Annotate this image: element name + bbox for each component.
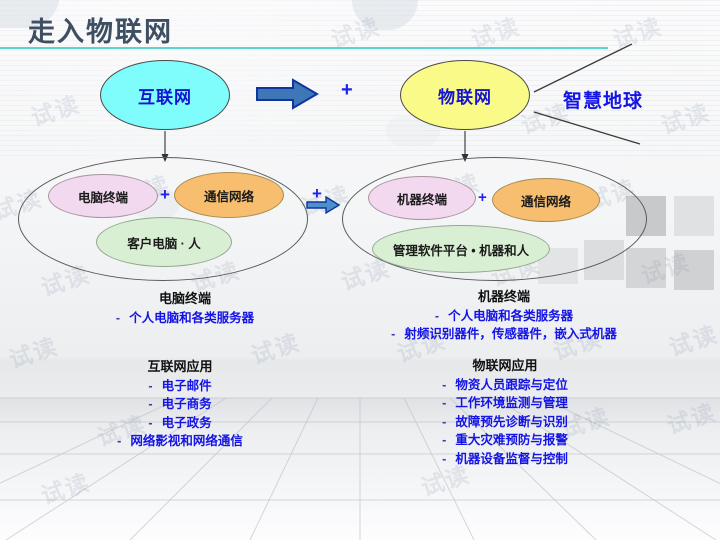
sub-ellipse-client-pc-person[interactable]: 客户电脑 · 人 <box>96 217 232 267</box>
sub-ellipse-machine-terminal-label: 机器终端 <box>397 189 447 208</box>
bullet-dash: - <box>442 431 446 450</box>
left-apps-block: 互联网应用 - 电子邮件 - 电子商务 - 电子政务 - 网络影视和网络通信 <box>30 357 330 451</box>
plus-symbol-left-group: + <box>160 186 170 203</box>
background-square-4 <box>674 196 714 236</box>
list-item-label: 个人电脑和各类服务器 <box>129 309 254 328</box>
sub-ellipse-comm-network-left-label: 通信网络 <box>204 186 254 205</box>
sub-ellipse-comm-network-left[interactable]: 通信网络 <box>174 172 284 218</box>
ellipse-iot-label: 物联网 <box>438 83 492 108</box>
right-apps-heading: 物联网应用 <box>340 356 670 376</box>
list-item-label: 物资人员跟踪与定位 <box>455 376 568 395</box>
list-item-label: 故障预先诊断与识别 <box>455 413 568 432</box>
bullet-dash: - <box>435 307 439 326</box>
slide-canvas: 试读 试读 试读 试读 试读 试读 试读 试读 试读 试读 试读 试读 试读 试… <box>0 0 720 540</box>
background-square-5 <box>674 250 714 290</box>
list-item: - 射频识别器件，传感器件，嵌入式机器 <box>334 325 674 344</box>
sub-ellipse-management-platform[interactable]: 管理软件平台 • 机器和人 <box>372 225 550 273</box>
sub-ellipse-client-pc-person-label: 客户电脑 · 人 <box>127 233 201 252</box>
page-title: 走入物联网 <box>28 10 173 49</box>
left-terminal-block: 电脑终端 - 个人电脑和各类服务器 <box>40 289 330 327</box>
list-item: - 物资人员跟踪与定位 <box>340 376 670 395</box>
list-item: - 重大灾难预防与报警 <box>340 431 670 450</box>
title-underline-rule <box>0 47 608 49</box>
sub-ellipse-pc-terminal[interactable]: 电脑终端 <box>48 174 158 218</box>
plus-symbol-right-group: + <box>478 190 487 205</box>
list-item: - 故障预先诊断与识别 <box>340 413 670 432</box>
bullet-dash: - <box>442 450 446 469</box>
list-item: - 电子邮件 <box>30 377 330 396</box>
list-item: - 网络影视和网络通信 <box>30 432 330 451</box>
ellipse-internet[interactable]: 互联网 <box>100 60 230 130</box>
bullet-dash: - <box>116 309 120 328</box>
list-item-label: 电子邮件 <box>162 377 212 396</box>
list-item-label: 射频识别器件，传感器件，嵌入式机器 <box>404 325 617 344</box>
list-item-label: 机器设备监督与控制 <box>455 450 568 469</box>
plus-symbol-top: + <box>341 80 353 100</box>
right-apps-block: 物联网应用 - 物资人员跟踪与定位 - 工作环境监测与管理 - 故障预先诊断与识… <box>340 356 670 468</box>
bullet-dash: - <box>442 394 446 413</box>
background-square-3 <box>626 248 666 288</box>
background-blob-2 <box>352 0 418 30</box>
list-item: - 电子商务 <box>30 395 330 414</box>
bullet-dash: - <box>148 395 152 414</box>
bullet-dash: - <box>117 432 121 451</box>
ellipse-iot[interactable]: 物联网 <box>400 60 530 130</box>
list-item-label: 电子政务 <box>162 414 212 433</box>
list-item: - 个人电脑和各类服务器 <box>40 309 330 328</box>
list-item: - 电子政务 <box>30 414 330 433</box>
list-item: - 机器设备监督与控制 <box>340 450 670 469</box>
right-arrow-small-icon <box>306 196 340 214</box>
right-arrow-icon <box>255 78 319 110</box>
sub-ellipse-comm-network-right[interactable]: 通信网络 <box>492 178 600 222</box>
left-apps-heading: 互联网应用 <box>30 357 330 377</box>
bullet-dash: - <box>442 413 446 432</box>
list-item-label: 重大灾难预防与报警 <box>455 431 568 450</box>
right-terminal-heading: 机器终端 <box>334 287 674 307</box>
list-item-label: 电子商务 <box>162 395 212 414</box>
left-terminal-heading: 电脑终端 <box>40 289 330 309</box>
ellipse-internet-label: 互联网 <box>138 83 192 108</box>
bullet-dash: - <box>148 377 152 396</box>
list-item-label: 网络影视和网络通信 <box>130 432 243 451</box>
sub-ellipse-machine-terminal[interactable]: 机器终端 <box>368 176 476 220</box>
list-item: - 工作环境监测与管理 <box>340 394 670 413</box>
sub-ellipse-management-platform-label: 管理软件平台 • 机器和人 <box>393 240 529 259</box>
list-item: - 个人电脑和各类服务器 <box>334 307 674 326</box>
bullet-dash: - <box>442 376 446 395</box>
right-terminal-block: 机器终端 - 个人电脑和各类服务器 - 射频识别器件，传感器件，嵌入式机器 <box>334 287 674 344</box>
bullet-dash: - <box>148 414 152 433</box>
list-item-label: 工作环境监测与管理 <box>455 394 568 413</box>
bullet-dash: - <box>391 325 395 344</box>
list-item-label: 个人电脑和各类服务器 <box>448 307 573 326</box>
sub-ellipse-comm-network-right-label: 通信网络 <box>521 191 571 210</box>
smart-earth-label: 智慧地球 <box>563 86 643 113</box>
sub-ellipse-pc-terminal-label: 电脑终端 <box>78 187 128 206</box>
